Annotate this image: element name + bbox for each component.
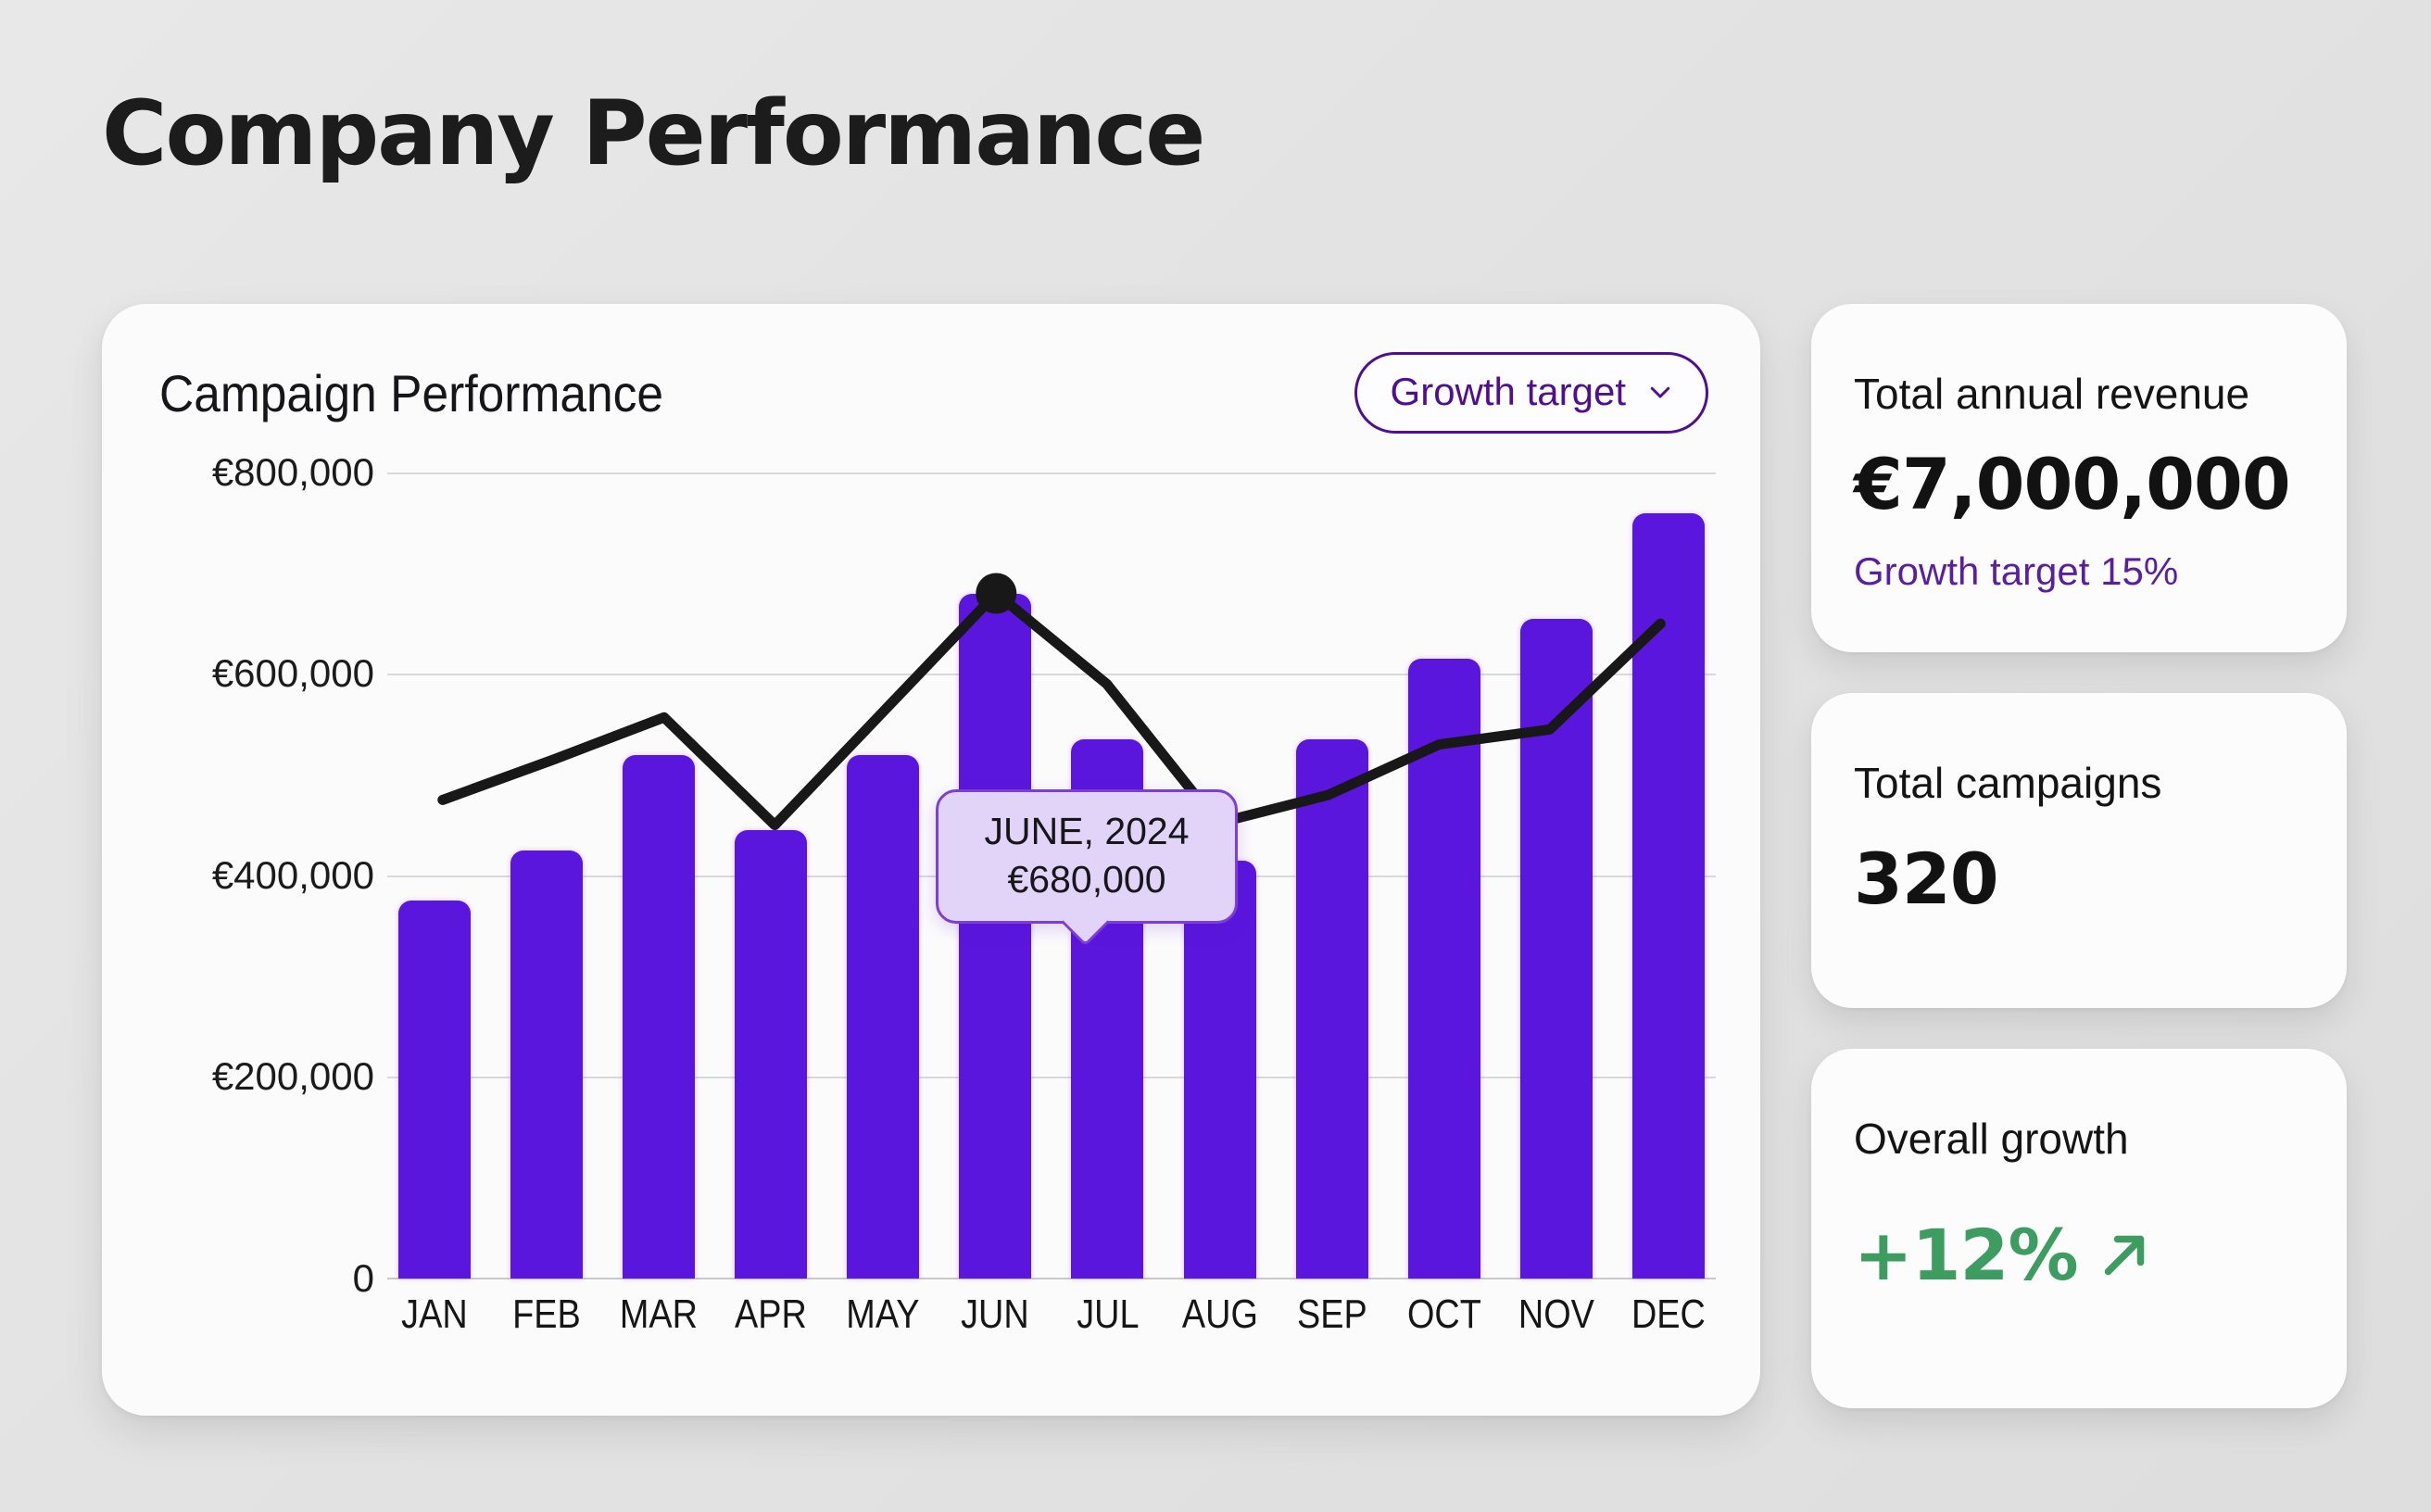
bar-feb[interactable] xyxy=(510,850,583,1279)
stat-card-overall-growth: Overall growth +12% xyxy=(1811,1049,2347,1408)
bar-slot-apr xyxy=(724,472,818,1279)
stat-label-revenue: Total annual revenue xyxy=(1854,369,2304,419)
stat-card-total-campaigns: Total campaigns 320 xyxy=(1811,693,2347,1008)
tooltip-period: JUNE, 2024 xyxy=(948,807,1226,855)
x-tick-sep: SEP xyxy=(1291,1291,1373,1338)
bar-oct[interactable] xyxy=(1408,659,1480,1279)
stat-value-overall-growth: +12% xyxy=(1854,1214,2078,1296)
stat-card-total-annual-revenue: Total annual revenue €7,000,000 Growth t… xyxy=(1811,304,2347,652)
stat-label-overall-growth: Overall growth xyxy=(1854,1114,2304,1164)
chart-title: Campaign Performance xyxy=(159,363,663,423)
bar-may[interactable] xyxy=(847,755,919,1279)
stat-sub-growth-target: Growth target 15% xyxy=(1854,549,2304,594)
page-title: Company Performance xyxy=(102,82,1203,185)
x-tick-nov: NOV xyxy=(1516,1291,1597,1338)
campaign-performance-card: Campaign Performance Growth target €800,… xyxy=(102,304,1760,1416)
bar-slot-feb xyxy=(499,472,594,1279)
bar-nov[interactable] xyxy=(1520,619,1593,1279)
bar-apr[interactable] xyxy=(735,830,807,1279)
x-tick-mar: MAR xyxy=(618,1291,699,1338)
chevron-down-icon xyxy=(1646,378,1674,406)
stat-value-campaigns: 320 xyxy=(1854,838,2304,920)
stat-value-revenue: €7,000,000 xyxy=(1854,443,2304,525)
x-tick-feb: FEB xyxy=(506,1291,587,1338)
bar-jun[interactable] xyxy=(959,594,1031,1279)
x-tick-jul: JUL xyxy=(1067,1291,1149,1338)
bar-sep[interactable] xyxy=(1296,739,1368,1279)
y-tick-label: €200,000 xyxy=(212,1054,374,1099)
x-tick-oct: OCT xyxy=(1404,1291,1485,1338)
y-tick-label: €600,000 xyxy=(212,651,374,696)
bar-slot-nov xyxy=(1509,472,1604,1279)
growth-target-dropdown-label: Growth target xyxy=(1391,370,1626,414)
x-tick-jun: JUN xyxy=(955,1291,1037,1338)
y-tick-label: €800,000 xyxy=(212,450,374,495)
y-axis: €800,000 €600,000 €400,000 €200,000 0 xyxy=(159,472,374,1279)
y-tick-label: €400,000 xyxy=(212,853,374,898)
bar-slot-dec xyxy=(1621,472,1716,1279)
x-tick-jan: JAN xyxy=(394,1291,475,1338)
stat-label-campaigns: Total campaigns xyxy=(1854,758,2304,808)
x-tick-apr: APR xyxy=(730,1291,812,1338)
bar-jan[interactable] xyxy=(398,901,471,1279)
bar-mar[interactable] xyxy=(623,755,695,1279)
bar-slot-sep xyxy=(1285,472,1379,1279)
bar-slot-oct xyxy=(1397,472,1492,1279)
tooltip-value: €680,000 xyxy=(948,855,1226,903)
y-tick-label: 0 xyxy=(353,1256,374,1301)
arrow-up-right-icon xyxy=(2097,1228,2152,1283)
chart-plot-area: €800,000 €600,000 €400,000 €200,000 0 xyxy=(159,472,1716,1362)
bar-dec[interactable] xyxy=(1632,513,1705,1279)
x-tick-aug: AUG xyxy=(1179,1291,1261,1338)
x-tick-may: MAY xyxy=(843,1291,925,1338)
x-tick-dec: DEC xyxy=(1628,1291,1709,1338)
chart-tooltip: JUNE, 2024 €680,000 xyxy=(936,789,1238,924)
bar-slot-mar xyxy=(611,472,706,1279)
x-axis: JAN FEB MAR APR MAY JUN JUL AUG SEP OCT … xyxy=(387,1291,1716,1338)
chart-header: Campaign Performance Growth target xyxy=(159,350,1708,435)
overall-growth-value-row: +12% xyxy=(1854,1214,2304,1296)
growth-target-dropdown[interactable]: Growth target xyxy=(1354,352,1708,434)
bar-slot-jan xyxy=(387,472,482,1279)
bar-slot-may xyxy=(836,472,930,1279)
